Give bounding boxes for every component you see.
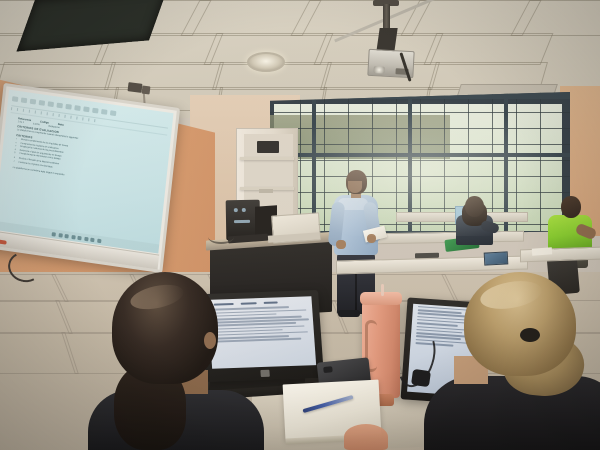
- screen-glare: [0, 90, 86, 254]
- loose-paper: [532, 247, 552, 255]
- hair-tie: [520, 328, 540, 342]
- participant-front-right: [440, 272, 600, 450]
- projected-document: Referencia Codigo Nota 1 de 1 C-ETA Eval…: [0, 90, 174, 254]
- interactive-whiteboard[interactable]: Referencia Codigo Nota 1 de 1 C-ETA Eval…: [0, 83, 180, 273]
- laptop-brand-logo: [260, 370, 269, 377]
- red-marker[interactable]: [0, 239, 7, 244]
- projector-lens-icon: [373, 66, 384, 74]
- tumbler-straw: [381, 284, 384, 296]
- recessed-ceiling-light-icon: [247, 52, 285, 72]
- projector-mount-pole: [383, 4, 390, 30]
- wall-power-outlet-secondary[interactable]: [142, 86, 151, 95]
- phone-on-table[interactable]: [415, 253, 439, 259]
- instructor-shoe: [338, 310, 360, 317]
- classroom-photo: Referencia Codigo Nota 1 de 1 C-ETA Eval…: [0, 0, 600, 450]
- wall-power-outlet[interactable]: [128, 82, 143, 93]
- taskbar-icon[interactable]: [97, 238, 101, 243]
- shelf-item-small: [259, 189, 273, 193]
- tablet-device[interactable]: [484, 251, 509, 265]
- participant-mid: [452, 196, 496, 248]
- orange-stool[interactable]: [344, 424, 388, 450]
- participant-head: [561, 196, 581, 218]
- participant-head: [465, 196, 484, 217]
- equipment-cables: [208, 230, 234, 244]
- taskbar-icon[interactable]: [90, 237, 94, 242]
- participant-front-left: [96, 272, 246, 450]
- phone-camera-icon: [323, 366, 333, 373]
- shelf-item-box: [257, 141, 279, 153]
- earbuds-case[interactable]: [411, 369, 431, 387]
